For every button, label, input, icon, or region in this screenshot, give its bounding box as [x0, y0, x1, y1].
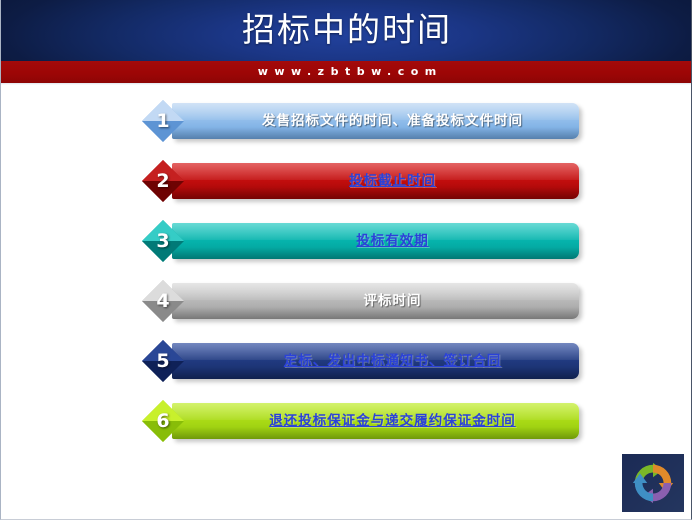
- process-row[interactable]: 发售招标文件的时间、准备投标文件时间1: [142, 100, 579, 142]
- website-url: www.zbtbw.com: [1, 61, 692, 83]
- process-bar[interactable]: 退还投标保证金与递交履约保证金时间: [172, 403, 579, 439]
- header-divider: [1, 83, 692, 85]
- cycle-arrows-icon: [628, 459, 678, 507]
- process-bar[interactable]: 投标有效期: [172, 223, 579, 259]
- website-banner: www.zbtbw.com: [1, 61, 692, 83]
- step-number-badge[interactable]: 5: [142, 340, 184, 382]
- process-list: 发售招标文件的时间、准备投标文件时间1投标截止时间2投标有效期3评标时间4定标、…: [1, 92, 692, 462]
- process-row[interactable]: 投标截止时间2: [142, 160, 579, 202]
- step-number: 5: [142, 340, 184, 382]
- page-title: 招标中的时间: [1, 8, 692, 52]
- step-number: 4: [142, 280, 184, 322]
- step-number: 1: [142, 100, 184, 142]
- cycle-arrows-logo: [622, 454, 684, 512]
- step-number-badge[interactable]: 1: [142, 100, 184, 142]
- process-bar[interactable]: 发售招标文件的时间、准备投标文件时间: [172, 103, 579, 139]
- process-bar[interactable]: 投标截止时间: [172, 163, 579, 199]
- process-label: 退还投标保证金与递交履约保证金时间: [214, 403, 571, 439]
- process-bar[interactable]: 评标时间: [172, 283, 579, 319]
- process-label: 投标截止时间: [214, 163, 571, 199]
- process-bar[interactable]: 定标、发出中标通知书、签订合同: [172, 343, 579, 379]
- process-row[interactable]: 投标有效期3: [142, 220, 579, 262]
- process-label: 评标时间: [214, 283, 571, 319]
- step-number-badge[interactable]: 4: [142, 280, 184, 322]
- process-label: 投标有效期: [214, 223, 571, 259]
- step-number-badge[interactable]: 6: [142, 400, 184, 442]
- slide-canvas: 招标中的时间 www.zbtbw.com 发售招标文件的时间、准备投标文件时间1…: [0, 0, 692, 520]
- step-number: 2: [142, 160, 184, 202]
- process-row[interactable]: 定标、发出中标通知书、签订合同5: [142, 340, 579, 382]
- process-label: 定标、发出中标通知书、签订合同: [214, 343, 571, 379]
- step-number-badge[interactable]: 3: [142, 220, 184, 262]
- step-number: 6: [142, 400, 184, 442]
- slide-header: 招标中的时间: [1, 0, 692, 61]
- process-row[interactable]: 评标时间4: [142, 280, 579, 322]
- process-row[interactable]: 退还投标保证金与递交履约保证金时间6: [142, 400, 579, 442]
- step-number: 3: [142, 220, 184, 262]
- step-number-badge[interactable]: 2: [142, 160, 184, 202]
- process-label: 发售招标文件的时间、准备投标文件时间: [214, 103, 571, 139]
